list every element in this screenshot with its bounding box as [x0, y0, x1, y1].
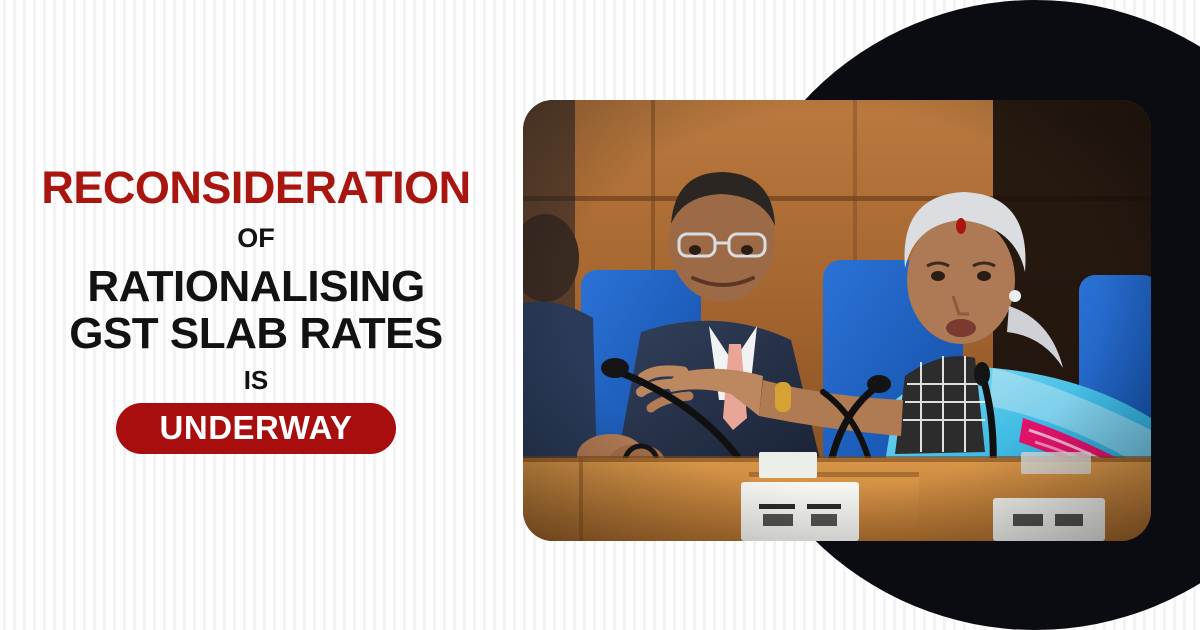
headline-line-rationalising: RATIONALISING	[0, 264, 512, 311]
headline-line-is: IS	[0, 367, 512, 394]
badge-container: UNDERWAY	[0, 403, 512, 455]
status-badge-underway: UNDERWAY	[116, 403, 397, 455]
press-conference-photo	[523, 100, 1151, 541]
headline-line-reconsideration: RECONSIDERATION	[0, 165, 512, 212]
headline-line-gst-slab-rates: GST SLAB RATES	[0, 311, 512, 358]
photo-illustration	[523, 100, 1151, 541]
banner-canvas: RECONSIDERATION OF RATIONALISING GST SLA…	[0, 0, 1200, 630]
headline-line-of: OF	[0, 224, 512, 252]
headline-block: RECONSIDERATION OF RATIONALISING GST SLA…	[0, 165, 512, 454]
